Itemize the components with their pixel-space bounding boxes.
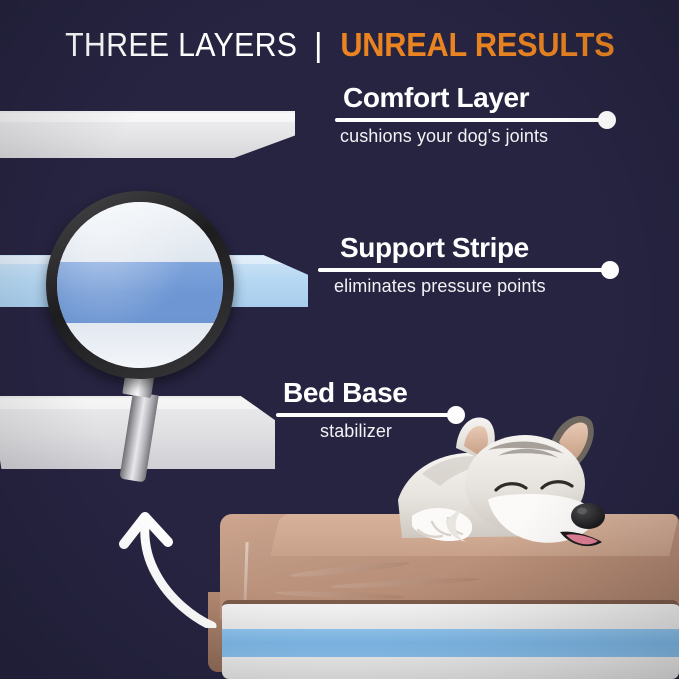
- callout-subtext: eliminates pressure points: [318, 277, 613, 297]
- callout-support-stripe: Support Stripe eliminates pressure point…: [318, 233, 613, 297]
- magnifier-lens: [57, 202, 223, 368]
- bed-wrinkle: [275, 590, 405, 601]
- callout-subtext: cushions your dog's joints: [335, 127, 610, 147]
- magnifying-glass-icon: [46, 191, 234, 379]
- bed-wrinkle: [330, 576, 480, 590]
- foam-bed-base: [222, 657, 679, 679]
- callout-end-dot: [601, 261, 619, 279]
- infographic-canvas: THREE LAYERS|UNREAL RESULTS Comfort Laye…: [0, 0, 679, 679]
- lens-support-stripe-view: [57, 262, 223, 323]
- callout-comfort-layer: Comfort Layer cushions your dog's joints: [335, 83, 610, 147]
- dog-nose-highlight: [577, 508, 587, 515]
- foam-support-stripe: [222, 629, 679, 657]
- callout-end-dot: [598, 111, 616, 129]
- foam-comfort-layer: [222, 604, 679, 629]
- callout-heading: Support Stripe: [318, 233, 613, 262]
- page-title: THREE LAYERS|UNREAL RESULTS: [0, 26, 679, 64]
- dog-nose: [571, 503, 605, 529]
- title-separator: |: [307, 26, 330, 64]
- lens-comfort-layer-view: [57, 202, 223, 262]
- callout-heading: Comfort Layer: [335, 83, 610, 112]
- comfort-layer-slab: [0, 111, 295, 158]
- slab-sheen: [0, 113, 295, 122]
- callout-heading: Bed Base: [276, 378, 459, 407]
- sleeping-dog-photo: [392, 404, 679, 564]
- curved-up-arrow-icon: [108, 500, 228, 628]
- callout-connector-line: [335, 118, 610, 122]
- title-white-part: THREE LAYERS: [65, 26, 297, 64]
- bed-foam-cutaway: [222, 600, 679, 679]
- lens-base-layer-view: [57, 323, 223, 368]
- callout-connector-line: [318, 268, 613, 272]
- title-orange-part: UNREAL RESULTS: [340, 26, 614, 64]
